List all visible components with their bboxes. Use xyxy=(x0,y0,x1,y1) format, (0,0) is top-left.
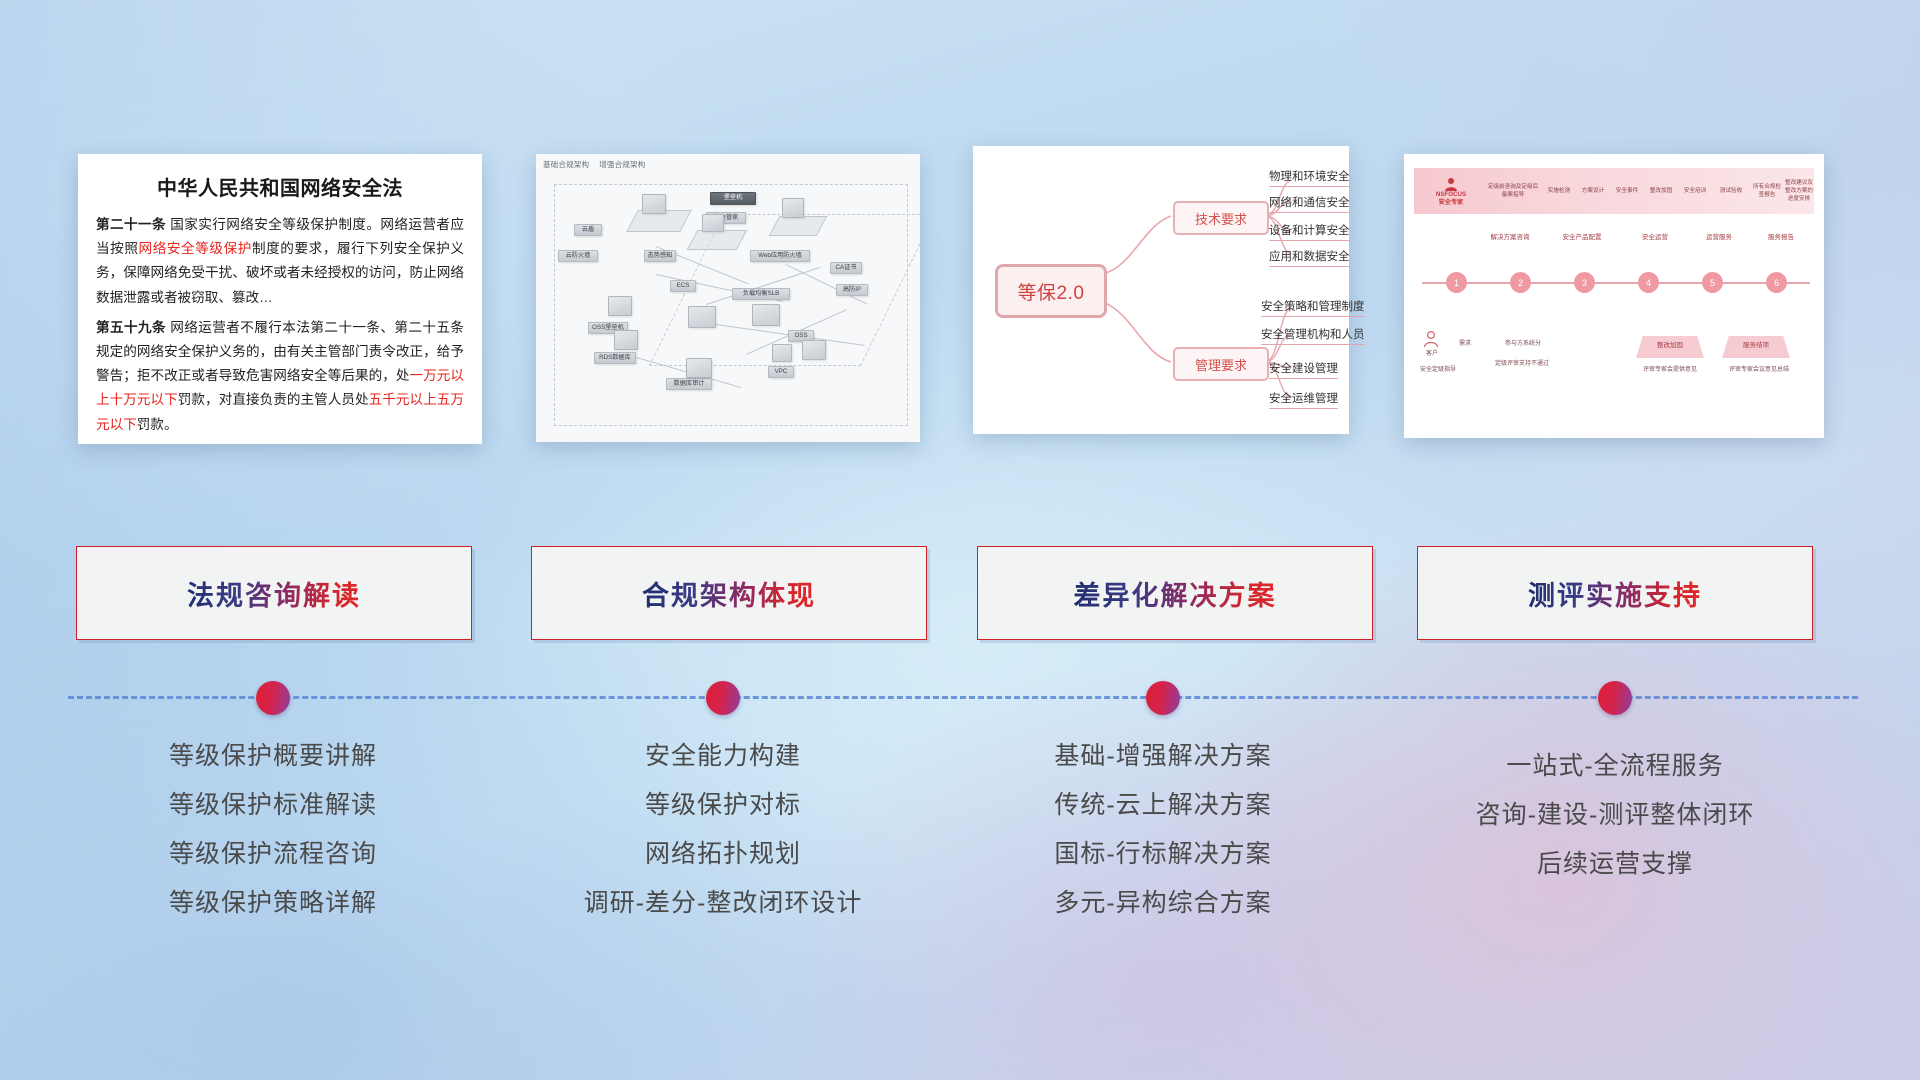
timeline-dashed-line xyxy=(68,696,1858,699)
section-header-1-label: 法规咨询解读 xyxy=(187,574,361,613)
list-item: 等级保护概要讲解 xyxy=(58,742,488,770)
section-header-3[interactable]: 差异化解决方案 xyxy=(977,546,1373,640)
list-item: 等级保护流程咨询 xyxy=(58,840,488,868)
bullet-column-2: 安全能力构建 等级保护对标 网络拓扑规划 调研-差分-整改闭环设计 xyxy=(508,742,938,938)
list-item: 等级保护对标 xyxy=(508,791,938,819)
timeline-dot-3[interactable] xyxy=(1146,681,1180,715)
list-item: 后续运营支撑 xyxy=(1400,850,1830,878)
timeline-dot-2[interactable] xyxy=(706,681,740,715)
section-header-3-label: 差异化解决方案 xyxy=(1074,574,1277,613)
bullet-column-3: 基础-增强解决方案 传统-云上解决方案 国标-行标解决方案 多元-异构综合方案 xyxy=(948,742,1378,938)
list-item: 一站式-全流程服务 xyxy=(1400,752,1830,780)
section-header-2[interactable]: 合规架构体现 xyxy=(531,546,927,640)
list-item: 多元-异构综合方案 xyxy=(948,889,1378,917)
bullet-column-1: 等级保护概要讲解 等级保护标准解读 等级保护流程咨询 等级保护策略详解 xyxy=(58,742,488,938)
list-item: 等级保护策略详解 xyxy=(58,889,488,917)
timeline-dot-4[interactable] xyxy=(1598,681,1632,715)
section-header-4[interactable]: 测评实施支持 xyxy=(1417,546,1813,640)
list-item: 等级保护标准解读 xyxy=(58,791,488,819)
list-item: 安全能力构建 xyxy=(508,742,938,770)
list-item: 基础-增强解决方案 xyxy=(948,742,1378,770)
list-item: 国标-行标解决方案 xyxy=(948,840,1378,868)
section-header-1[interactable]: 法规咨询解读 xyxy=(76,546,472,640)
section-header-2-label: 合规架构体现 xyxy=(642,574,816,613)
section-header-4-label: 测评实施支持 xyxy=(1528,574,1702,613)
list-item: 传统-云上解决方案 xyxy=(948,791,1378,819)
list-item: 网络拓扑规划 xyxy=(508,840,938,868)
list-item: 调研-差分-整改闭环设计 xyxy=(508,889,938,917)
timeline-dot-1[interactable] xyxy=(256,681,290,715)
list-item: 咨询-建设-测评整体闭环 xyxy=(1400,801,1830,829)
bullet-column-4: 一站式-全流程服务 咨询-建设-测评整体闭环 后续运营支撑 xyxy=(1400,752,1830,899)
